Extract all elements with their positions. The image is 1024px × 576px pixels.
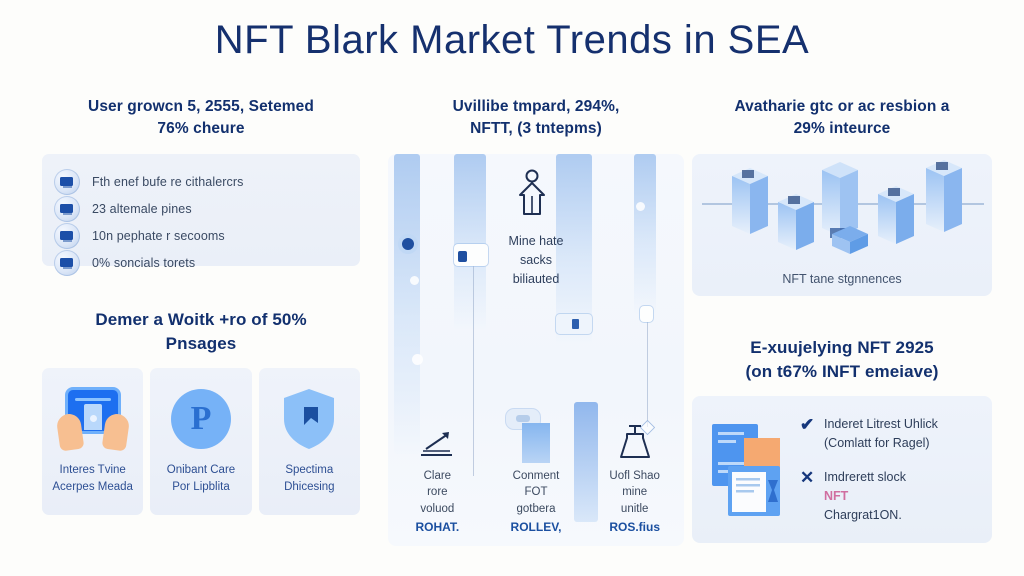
- tri-art: [522, 421, 550, 463]
- tri3-line1: Uofl Shao: [609, 468, 660, 484]
- center-chart-panel: Mine hate sacks biliauted: [388, 154, 684, 546]
- bar-5: [634, 154, 656, 314]
- iso-block-1: [732, 168, 768, 234]
- checklist-panel: ✔ Inderet Litrest Uhlick (Comlatt for Ra…: [692, 396, 992, 543]
- monitor-badge-icon: [54, 250, 80, 276]
- center-heading-line2: NFTT, (3 tntepms): [388, 118, 684, 140]
- right-heading-2: E-xuujelying NFT 2925 (on t67% INFT emei…: [692, 336, 992, 384]
- list-item-label: 23 altemale pines: [92, 202, 192, 216]
- bar-column-icon: [522, 423, 550, 463]
- left-heading2-line2: Pnsages: [42, 332, 360, 356]
- documents-icon: [706, 418, 792, 522]
- card-art: P: [171, 382, 231, 456]
- right-heading: Avatharie gtc or ac resbion a 29% inteur…: [692, 96, 992, 140]
- left-heading-2: Demer a Woitk +ro of 50% Pnsages: [42, 308, 360, 356]
- bar-1: [394, 154, 420, 454]
- iso-blocks-chart: [692, 154, 992, 264]
- shield-icon: [280, 387, 338, 451]
- check-text: Inderet Litrest Uhlick (Comlatt for Rage…: [824, 415, 938, 453]
- card-caption: Interes Tvine Acerpes Meada: [52, 462, 133, 495]
- left-heading: User growcn 5, 2555, Setemed 76% cheure: [42, 96, 360, 140]
- tri1-line4: ROHAT.: [415, 519, 459, 536]
- center-note-line1: Mine hate: [478, 232, 594, 251]
- left-column: User growcn 5, 2555, Setemed 76% cheure …: [42, 96, 360, 515]
- marker-dot-icon: [402, 238, 414, 250]
- tri-art: [418, 421, 456, 463]
- monitor-badge-icon: [54, 196, 80, 222]
- iso-block-5: [878, 186, 914, 244]
- list-item-label: Fth enef bufe re cithalercrs: [92, 175, 243, 189]
- tri2-line1: Conment: [511, 468, 562, 484]
- tri3-line4: ROS.fius: [609, 519, 660, 536]
- trend-up-icon: [418, 429, 456, 463]
- check-icon: ✔: [800, 415, 824, 435]
- connector-line: [647, 322, 648, 427]
- tri2-line3: gotbera: [511, 501, 562, 517]
- monitor-badge-icon: [54, 223, 80, 249]
- card-caption: Onibant Care Por Lipblita: [167, 462, 235, 495]
- center-column: Uvillibe tmpard, 294%, NFTT, (3 tntepms): [388, 96, 684, 546]
- pale-dot-icon: [410, 276, 419, 285]
- center-triplet: Clare rore voluod ROHAT. Conment FOT got…: [388, 421, 684, 536]
- list-item[interactable]: 0% soncials torets: [54, 249, 350, 276]
- pale-dot-icon: [636, 202, 645, 211]
- check0-line1: Inderet Litrest Uhlick: [824, 415, 938, 434]
- check1-line1-pre: Imdrerett slock: [824, 468, 906, 487]
- feature-card-3[interactable]: Spectima Dhicesing: [259, 368, 360, 515]
- person-icon: [512, 168, 552, 220]
- check1-line1: Imdrerett slock NFT: [824, 468, 906, 506]
- triplet-caption: Conment FOT gotbera ROLLEV,: [511, 468, 562, 536]
- card-caption: Spectima Dhicesing: [284, 462, 335, 495]
- tag-box: [640, 306, 653, 322]
- card1-line2: Acerpes Meada: [52, 479, 133, 496]
- card1-line1: Interes Tvine: [52, 462, 133, 479]
- iso-block-2: [778, 194, 814, 250]
- tri2-line2: FOT: [511, 484, 562, 500]
- monitor-badge-icon: [54, 169, 80, 195]
- card2-line1: Onibant Care: [167, 462, 235, 479]
- list-item-label: 10n pephate r secooms: [92, 229, 225, 243]
- center-note-line3: biliauted: [478, 270, 594, 289]
- card3-line1: Spectima: [284, 462, 335, 479]
- feature-card-2[interactable]: P Onibant Care Por Lipblita: [150, 368, 251, 515]
- right-column: Avatharie gtc or ac resbion a 29% inteur…: [692, 96, 992, 543]
- tri3-line2: mine: [609, 484, 660, 500]
- check1-line2: Chargrat1ON.: [824, 506, 906, 525]
- page-title: NFT Blark Market Trends in SEA: [0, 18, 1024, 63]
- check1-nft-token: NFT: [824, 487, 906, 506]
- stats-list-panel: Fth enef bufe re cithalercrs 23 altemale…: [42, 154, 360, 266]
- right-heading2-line2: (on t67% INFT emeiave): [692, 360, 992, 384]
- tri-art: [618, 421, 652, 463]
- iso-block-3: [822, 162, 858, 238]
- iso-chart-panel: NFT tane stgnnences: [692, 154, 992, 296]
- tri3-line3: unitle: [609, 501, 660, 517]
- check-text: Imdrerett slock NFT Chargrat1ON.: [824, 468, 906, 524]
- check-row-negative[interactable]: ✕ Imdrerett slock NFT Chargrat1ON.: [800, 468, 978, 524]
- check-row-positive[interactable]: ✔ Inderet Litrest Uhlick (Comlatt for Ra…: [800, 415, 978, 453]
- feature-cards: Interes Tvine Acerpes Meada P Onibant Ca…: [42, 368, 360, 515]
- card2-line2: Por Lipblita: [167, 479, 235, 496]
- center-heading: Uvillibe tmpard, 294%, NFTT, (3 tntepms): [388, 96, 684, 140]
- check0-line2: (Comlatt for Ragel): [824, 434, 938, 453]
- center-heading-line1: Uvillibe tmpard, 294%,: [388, 96, 684, 118]
- flask-icon: [618, 423, 652, 463]
- list-item[interactable]: 23 altemale pines: [54, 195, 350, 222]
- triplet-item-2[interactable]: Conment FOT gotbera ROLLEV,: [487, 421, 586, 536]
- iso-block-6: [926, 160, 962, 232]
- circle-p-icon: P: [171, 389, 231, 449]
- center-note-line2: sacks: [478, 251, 594, 270]
- tri2-line4: ROLLEV,: [511, 519, 562, 536]
- tri1-line2: rore: [415, 484, 459, 500]
- tablet-hands-icon: [56, 388, 130, 450]
- triplet-caption: Uofl Shao mine unitle ROS.fius: [609, 468, 660, 536]
- right-heading-line2: 29% inteurce: [692, 118, 992, 140]
- infographic-page: NFT Blark Market Trends in SEA User grow…: [0, 0, 1024, 576]
- left-heading2-line1: Demer a Woitk +ro of 50%: [42, 308, 360, 332]
- center-note: Mine hate sacks biliauted: [478, 232, 594, 289]
- tri1-line1: Clare: [415, 468, 459, 484]
- card-art: [280, 382, 338, 456]
- card3-line2: Dhicesing: [284, 479, 335, 496]
- cross-icon: ✕: [800, 468, 824, 488]
- check-list: ✔ Inderet Litrest Uhlick (Comlatt for Ra…: [792, 415, 978, 525]
- left-heading-line1: User growcn 5, 2555, Setemed: [42, 96, 360, 118]
- triplet-item-3[interactable]: Uofl Shao mine unitle ROS.fius: [585, 421, 684, 536]
- tri1-line3: voluod: [415, 501, 459, 517]
- left-heading-line2: 76% cheure: [42, 118, 360, 140]
- card-art: [56, 382, 130, 456]
- iso-caption: NFT tane stgnnences: [692, 272, 992, 286]
- list-item[interactable]: Fth enef bufe re cithalercrs: [54, 168, 350, 195]
- right-heading2-line1: E-xuujelying NFT 2925: [692, 336, 992, 360]
- feature-card-1[interactable]: Interes Tvine Acerpes Meada: [42, 368, 143, 515]
- pale-dot-icon: [412, 354, 423, 365]
- tag-box: [556, 314, 592, 334]
- list-item[interactable]: 10n pephate r secooms: [54, 222, 350, 249]
- list-item-label: 0% soncials torets: [92, 256, 195, 270]
- triplet-caption: Clare rore voluod ROHAT.: [415, 468, 459, 536]
- right-heading-line1: Avatharie gtc or ac resbion a: [692, 96, 992, 118]
- triplet-item-1[interactable]: Clare rore voluod ROHAT.: [388, 421, 487, 536]
